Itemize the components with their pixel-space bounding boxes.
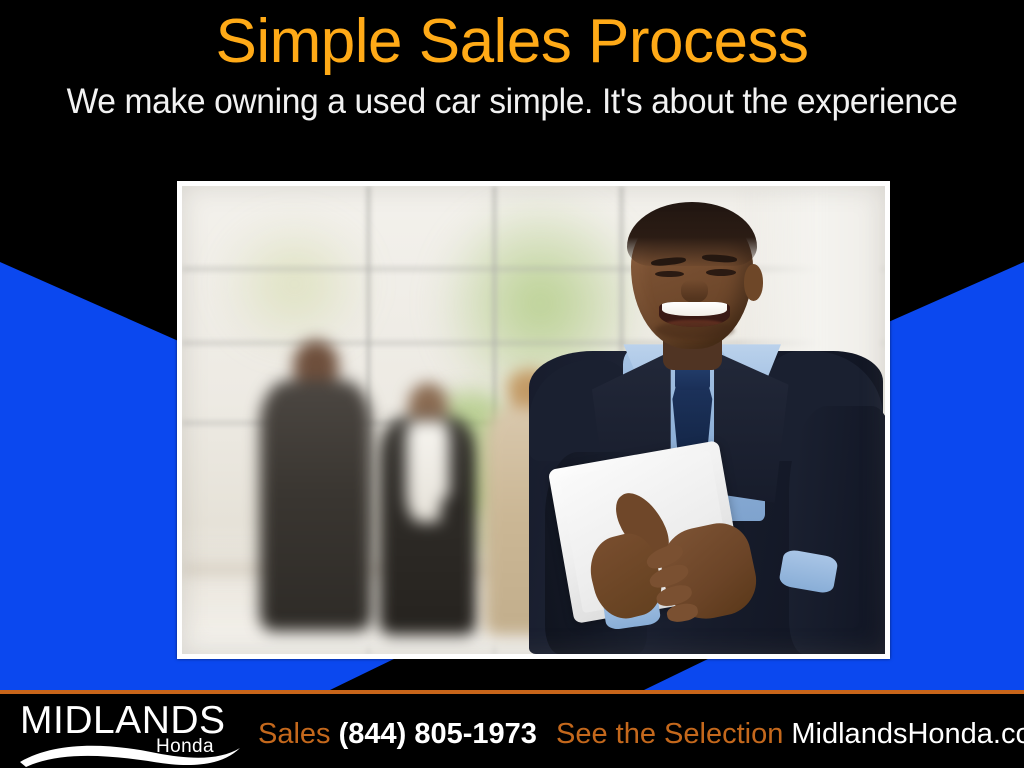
businessman — [505, 195, 885, 654]
background-person-arm — [440, 494, 473, 534]
background-person-body — [259, 380, 371, 630]
logo-swoosh-icon — [16, 736, 246, 768]
background-person-woman-dark — [379, 383, 477, 636]
hero-photo-frame — [177, 181, 890, 659]
sales-label: Sales — [258, 718, 331, 750]
nose — [681, 280, 709, 303]
footer-bar: MIDLANDS Honda Sales (844) 805-1973 See … — [0, 690, 1024, 768]
selection-label: See the Selection — [556, 718, 783, 750]
sales-phone[interactable]: (844) 805-1973 — [339, 718, 537, 750]
background-person-man — [259, 340, 371, 630]
website-link[interactable]: MidlandsHonda.com — [791, 718, 1024, 750]
hair — [627, 202, 757, 266]
suit-arm-right — [789, 406, 885, 654]
blue-band-notch — [330, 658, 710, 690]
page-subtitle: We make owning a used car simple. It's a… — [20, 82, 1003, 122]
page-title: Simple Sales Process — [0, 6, 1024, 78]
hero-photo — [182, 186, 885, 654]
midlands-honda-logo[interactable]: MIDLANDS Honda — [16, 700, 246, 768]
sales-contact[interactable]: Sales (844) 805-1973 — [258, 714, 537, 754]
foliage-glow-left — [217, 214, 372, 354]
selection-cta[interactable]: See the Selection MidlandsHonda.com — [556, 714, 1024, 754]
teeth — [662, 302, 727, 316]
header: Simple Sales Process We make owning a us… — [0, 0, 1024, 170]
ear — [744, 264, 764, 301]
promo-banner: Simple Sales Process We make owning a us… — [0, 0, 1024, 768]
eye-right — [706, 269, 736, 276]
